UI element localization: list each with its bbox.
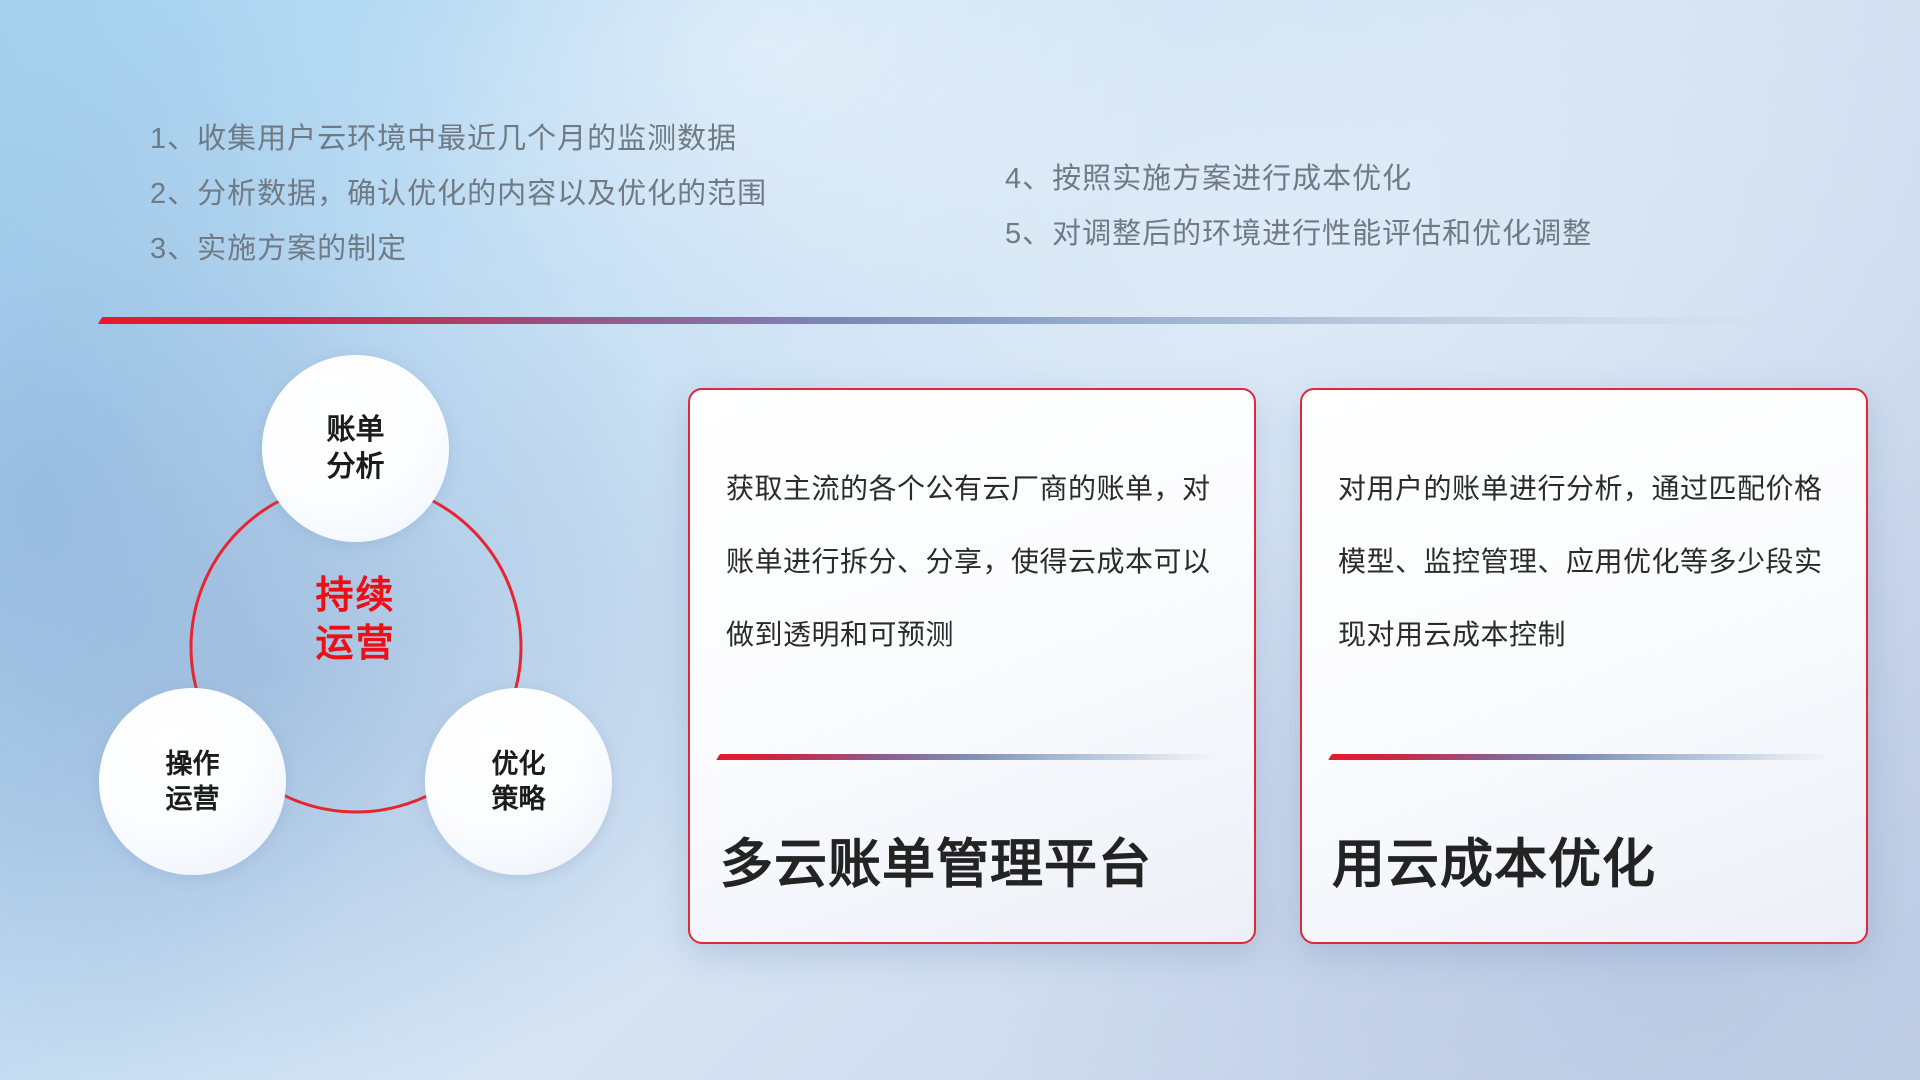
feature-card-cost-optimization[interactable]: 对用户的账单进行分析，通过匹配价格模型、监控管理、应用优化等多少段实现对用云成本… [1300, 388, 1868, 944]
cycle-bubble-left-line2: 运营 [166, 782, 220, 817]
feature-card-multicloud-billing[interactable]: 获取主流的各个公有云厂商的账单，对账单进行拆分、分享，使得云成本可以做到透明和可… [688, 388, 1256, 944]
cycle-bubble-operations[interactable]: 操作 运营 [99, 688, 286, 875]
cycle-center-line2: 运营 [273, 620, 438, 668]
cycle-bubble-top-line1: 账单 [326, 412, 384, 449]
cycle-bubble-right-line2: 策略 [492, 782, 546, 817]
cycle-bubble-top-line2: 分析 [326, 449, 384, 486]
cycle-bubble-left-line1: 操作 [166, 747, 220, 782]
step-item-3: 3、实施方案的制定 [150, 222, 767, 277]
cycle-bubble-right-line1: 优化 [492, 747, 546, 782]
card-2-divider [1328, 754, 1832, 760]
card-1-body: 获取主流的各个公有云厂商的账单，对账单进行拆分、分享，使得云成本可以做到透明和可… [726, 452, 1224, 671]
cycle-center-line1: 持续 [273, 572, 438, 620]
section-divider [98, 317, 1847, 324]
cycle-bubble-billing-analysis[interactable]: 账单 分析 [262, 355, 449, 542]
step-item-2: 2、分析数据，确认优化的内容以及优化的范围 [150, 167, 767, 222]
cycle-diagram: 账单 分析 操作 运营 优化 策略 持续 运营 [95, 350, 665, 960]
steps-column-right: 4、按照实施方案进行成本优化 5、对调整后的环境进行性能评估和优化调整 [1005, 152, 1592, 262]
card-1-divider [716, 754, 1220, 760]
card-2-title: 用云成本优化 [1332, 822, 1846, 898]
step-item-5: 5、对调整后的环境进行性能评估和优化调整 [1005, 207, 1592, 262]
step-item-1: 1、收集用户云环境中最近几个月的监测数据 [150, 112, 767, 167]
steps-column-left: 1、收集用户云环境中最近几个月的监测数据 2、分析数据，确认优化的内容以及优化的… [150, 112, 767, 277]
card-2-body: 对用户的账单进行分析，通过匹配价格模型、监控管理、应用优化等多少段实现对用云成本… [1338, 452, 1836, 671]
step-item-4: 4、按照实施方案进行成本优化 [1005, 152, 1592, 207]
cycle-bubble-optimization-strategy[interactable]: 优化 策略 [425, 688, 612, 875]
card-1-title: 多云账单管理平台 [720, 822, 1234, 898]
steps-section: 1、收集用户云环境中最近几个月的监测数据 2、分析数据，确认优化的内容以及优化的… [0, 0, 1920, 300]
cycle-center-label: 持续 运营 [273, 572, 438, 668]
